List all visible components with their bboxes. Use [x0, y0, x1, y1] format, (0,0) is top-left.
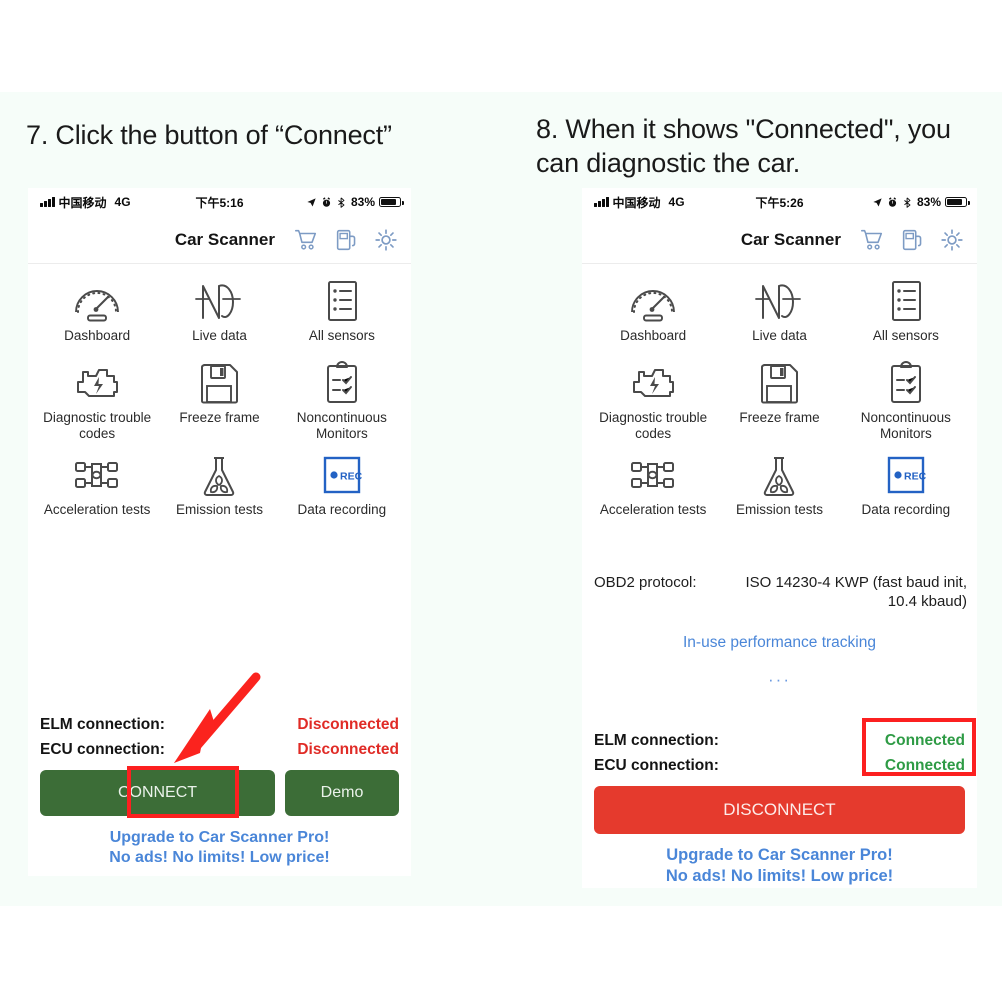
- tile-diagnostic-trouble-codes[interactable]: Diagnostic trouble codes: [590, 360, 716, 442]
- tile-data-recording[interactable]: REC Data recording: [281, 454, 403, 518]
- engine-check-icon: [69, 360, 125, 406]
- promo-line-2: No ads! No limits! Low price!: [594, 866, 965, 887]
- feature-grid: Dashboard Live data: [28, 264, 411, 518]
- status-bar-right: 83%: [872, 195, 967, 209]
- status-bar-right: 83%: [306, 195, 401, 209]
- elm-connection-row: ELM connection: Connected: [594, 728, 965, 753]
- alarm-clock-icon: [321, 197, 332, 208]
- tile-label: Diagnostic trouble codes: [591, 410, 715, 442]
- phone-screenshot-step-8: 中国移动 4G 下午5:26 83% Car Scanner: [582, 188, 977, 888]
- location-arrow-icon: [872, 197, 883, 208]
- phone-screenshot-step-7: 中国移动 4G 下午5:16 83% Car Scanner: [28, 188, 411, 876]
- alarm-clock-icon: [887, 197, 898, 208]
- tile-label: Live data: [752, 328, 807, 344]
- waveform-icon: [193, 278, 245, 324]
- tile-freeze-frame[interactable]: Freeze frame: [716, 360, 842, 442]
- tile-live-data[interactable]: Live data: [716, 278, 842, 344]
- tile-all-sensors[interactable]: All sensors: [843, 278, 969, 344]
- tile-label: Noncontinuous Monitors: [844, 410, 968, 442]
- caption-step-7: 7. Click the button of “Connect”: [26, 118, 466, 152]
- feature-grid: Dashboard Live data: [582, 264, 977, 518]
- caption-step-8-line-1: 8. When it shows "Connected", you: [536, 112, 996, 146]
- tile-label: Dashboard: [64, 328, 130, 344]
- tile-label: Acceleration tests: [600, 502, 707, 518]
- location-arrow-icon: [306, 197, 317, 208]
- tile-label: Data recording: [862, 502, 951, 518]
- tile-live-data[interactable]: Live data: [158, 278, 280, 344]
- gear-icon[interactable]: [939, 227, 965, 253]
- waveform-icon: [753, 278, 805, 324]
- tile-acceleration-tests[interactable]: Acceleration tests: [590, 454, 716, 518]
- disconnect-button[interactable]: DISCONNECT: [594, 786, 965, 834]
- flask-leaf-icon: [753, 454, 805, 498]
- battery-percent-label: 83%: [351, 195, 375, 209]
- svg-text:REC: REC: [904, 470, 927, 482]
- elm-connection-value: Connected: [885, 732, 965, 750]
- shopping-cart-icon[interactable]: [859, 227, 885, 253]
- rec-icon: REC: [318, 454, 366, 498]
- obd2-protocol-value: ISO 14230-4 KWP (fast baud init, 10.4 kb…: [745, 574, 967, 612]
- ecu-connection-row: ECU connection: Connected: [594, 753, 965, 778]
- obd2-protocol-label: OBD2 protocol:: [594, 574, 697, 591]
- more-dots-indicator[interactable]: ···: [594, 670, 965, 690]
- ecu-connection-value: Disconnected: [297, 741, 399, 759]
- rec-icon: REC: [882, 454, 930, 498]
- tile-label: Freeze frame: [739, 410, 819, 426]
- tile-dashboard[interactable]: Dashboard: [590, 278, 716, 344]
- ecu-connection-label: ECU connection:: [40, 741, 165, 759]
- tile-data-recording[interactable]: REC Data recording: [843, 454, 969, 518]
- app-title: Car Scanner: [741, 230, 841, 250]
- tile-emission-tests[interactable]: Emission tests: [158, 454, 280, 518]
- tile-acceleration-tests[interactable]: Acceleration tests: [36, 454, 158, 518]
- fuel-pump-icon[interactable]: [333, 227, 359, 253]
- status-bar: 中国移动 4G 下午5:26 83%: [582, 188, 977, 216]
- connect-button[interactable]: CONNECT: [40, 770, 275, 816]
- list-document-icon: [316, 278, 368, 324]
- panel-step-8: 8. When it shows "Connected", you can di…: [500, 0, 1002, 1002]
- tile-all-sensors[interactable]: All sensors: [281, 278, 403, 344]
- fuel-pump-icon[interactable]: [899, 227, 925, 253]
- tile-label: All sensors: [873, 328, 939, 344]
- tile-label: Emission tests: [736, 502, 823, 518]
- demo-button-label: Demo: [321, 784, 364, 802]
- bluetooth-icon: [336, 197, 347, 208]
- elm-connection-value: Disconnected: [297, 716, 399, 734]
- app-title: Car Scanner: [175, 230, 275, 250]
- list-document-icon: [880, 278, 932, 324]
- dashboard-gauge-icon: [71, 278, 123, 324]
- screenshot-root: 7. Click the button of “Connect” 中国移动 4G…: [0, 0, 1002, 1002]
- battery-icon: [945, 197, 967, 207]
- action-button-row: DISCONNECT: [594, 786, 965, 834]
- promo-line-1: Upgrade to Car Scanner Pro!: [40, 828, 399, 848]
- battery-percent-label: 83%: [917, 195, 941, 209]
- tile-emission-tests[interactable]: Emission tests: [716, 454, 842, 518]
- app-bar: Car Scanner: [582, 216, 977, 264]
- promo-line-2: No ads! No limits! Low price!: [40, 848, 399, 868]
- disconnect-button-label: DISCONNECT: [723, 800, 835, 820]
- caption-step-8-line-2: can diagnostic the car.: [536, 146, 996, 180]
- action-button-row: CONNECT Demo: [40, 770, 399, 816]
- promo-block[interactable]: Upgrade to Car Scanner Pro! No ads! No l…: [40, 828, 399, 868]
- tile-label: Noncontinuous Monitors: [282, 410, 402, 442]
- flask-leaf-icon: [193, 454, 245, 498]
- ecu-connection-value: Connected: [885, 757, 965, 775]
- elm-connection-row: ELM connection: Disconnected: [40, 712, 399, 737]
- connection-status-group: ELM connection: Disconnected ECU connect…: [40, 712, 399, 762]
- tile-label: Freeze frame: [179, 410, 259, 426]
- tile-dashboard[interactable]: Dashboard: [36, 278, 158, 344]
- demo-button[interactable]: Demo: [285, 770, 399, 816]
- tile-label: Emission tests: [176, 502, 263, 518]
- dashboard-gauge-icon: [627, 278, 679, 324]
- car-suspension-icon: [624, 454, 682, 498]
- tile-label: Data recording: [298, 502, 387, 518]
- tile-label: Acceleration tests: [44, 502, 151, 518]
- obd2-protocol-value-line-1: ISO 14230-4 KWP (fast baud init,: [745, 574, 967, 591]
- promo-block[interactable]: Upgrade to Car Scanner Pro! No ads! No l…: [594, 845, 965, 886]
- battery-icon: [379, 197, 401, 207]
- floppy-disk-icon: [193, 360, 245, 406]
- obd2-protocol-value-line-2: 10.4 kbaud): [888, 593, 967, 610]
- shopping-cart-icon[interactable]: [293, 227, 319, 253]
- tile-label: All sensors: [309, 328, 375, 344]
- panel-step-7: 7. Click the button of “Connect” 中国移动 4G…: [0, 0, 500, 1002]
- in-use-performance-tracking-link[interactable]: In-use performance tracking: [594, 634, 965, 652]
- clipboard-check-icon: [880, 360, 932, 406]
- connection-status-group: ELM connection: Connected ECU connection…: [594, 728, 965, 778]
- tile-noncontinuous-monitors[interactable]: Noncontinuous Monitors: [281, 360, 403, 442]
- app-bar: Car Scanner: [28, 216, 411, 264]
- promo-line-1: Upgrade to Car Scanner Pro!: [594, 845, 965, 866]
- svg-text:REC: REC: [340, 470, 363, 482]
- obd2-protocol-row: OBD2 protocol: ISO 14230-4 KWP (fast bau…: [594, 574, 967, 612]
- connect-button-label: CONNECT: [118, 784, 197, 802]
- car-suspension-icon: [68, 454, 126, 498]
- tile-label: Live data: [192, 328, 247, 344]
- ecu-connection-row: ECU connection: Disconnected: [40, 737, 399, 762]
- bluetooth-icon: [902, 197, 913, 208]
- tile-noncontinuous-monitors[interactable]: Noncontinuous Monitors: [843, 360, 969, 442]
- elm-connection-label: ELM connection:: [40, 716, 165, 734]
- floppy-disk-icon: [753, 360, 805, 406]
- tile-freeze-frame[interactable]: Freeze frame: [158, 360, 280, 442]
- tile-label: Dashboard: [620, 328, 686, 344]
- clipboard-check-icon: [316, 360, 368, 406]
- engine-check-icon: [625, 360, 681, 406]
- tile-diagnostic-trouble-codes[interactable]: Diagnostic trouble codes: [36, 360, 158, 442]
- gear-icon[interactable]: [373, 227, 399, 253]
- ecu-connection-label: ECU connection:: [594, 757, 719, 775]
- tile-label: Diagnostic trouble codes: [37, 410, 157, 442]
- status-bar: 中国移动 4G 下午5:16 83%: [28, 188, 411, 216]
- elm-connection-label: ELM connection:: [594, 732, 719, 750]
